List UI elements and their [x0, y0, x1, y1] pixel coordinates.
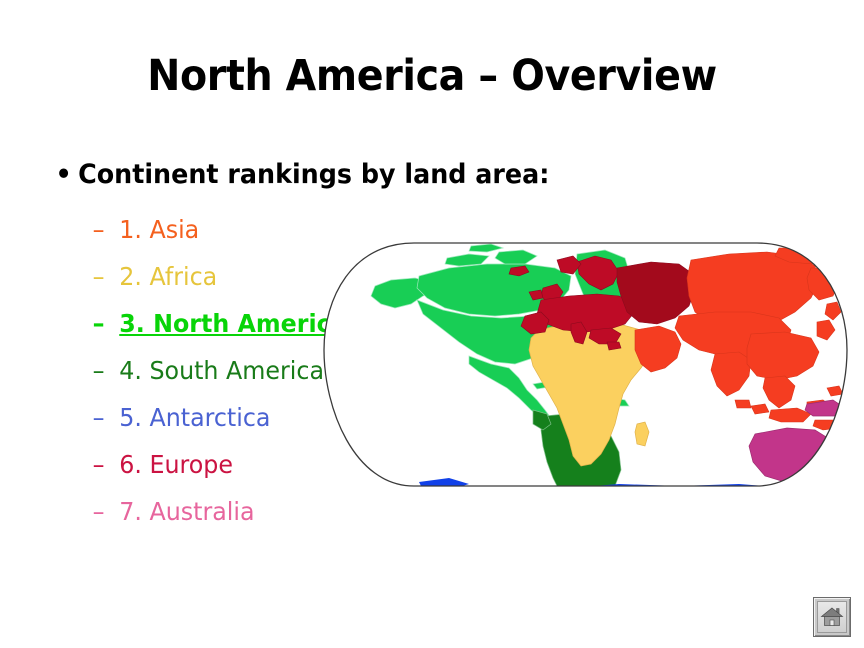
list-item-label: 1. Asia [119, 215, 199, 244]
list-item-label: 3. North America [119, 309, 346, 338]
bullet-icon: • [56, 156, 72, 194]
dash-icon: – [93, 441, 105, 488]
list-heading-label: Continent rankings by land area: [78, 159, 549, 190]
list-item-label: 4. South America [119, 356, 324, 385]
home-icon [820, 606, 844, 628]
dash-icon: – [93, 206, 105, 253]
page-title: North America – Overview [35, 47, 830, 105]
list-item-label: 5. Antarctica [119, 403, 270, 432]
dash-icon: – [93, 347, 105, 394]
list-item-label: 7. Australia [119, 497, 254, 526]
home-button-face [817, 601, 847, 633]
list-item-label: 2. Africa [119, 262, 217, 291]
list-heading: • Continent rankings by land area: [48, 156, 537, 194]
world-map [319, 238, 852, 534]
dash-icon: – [93, 253, 105, 300]
dash-icon: – [93, 488, 105, 535]
slide: North America – Overview • Continent ran… [0, 0, 864, 648]
home-button[interactable] [813, 597, 851, 637]
dash-icon: – [93, 300, 105, 347]
list-item-label: 6. Europe [119, 450, 233, 479]
dash-icon: – [93, 394, 105, 441]
